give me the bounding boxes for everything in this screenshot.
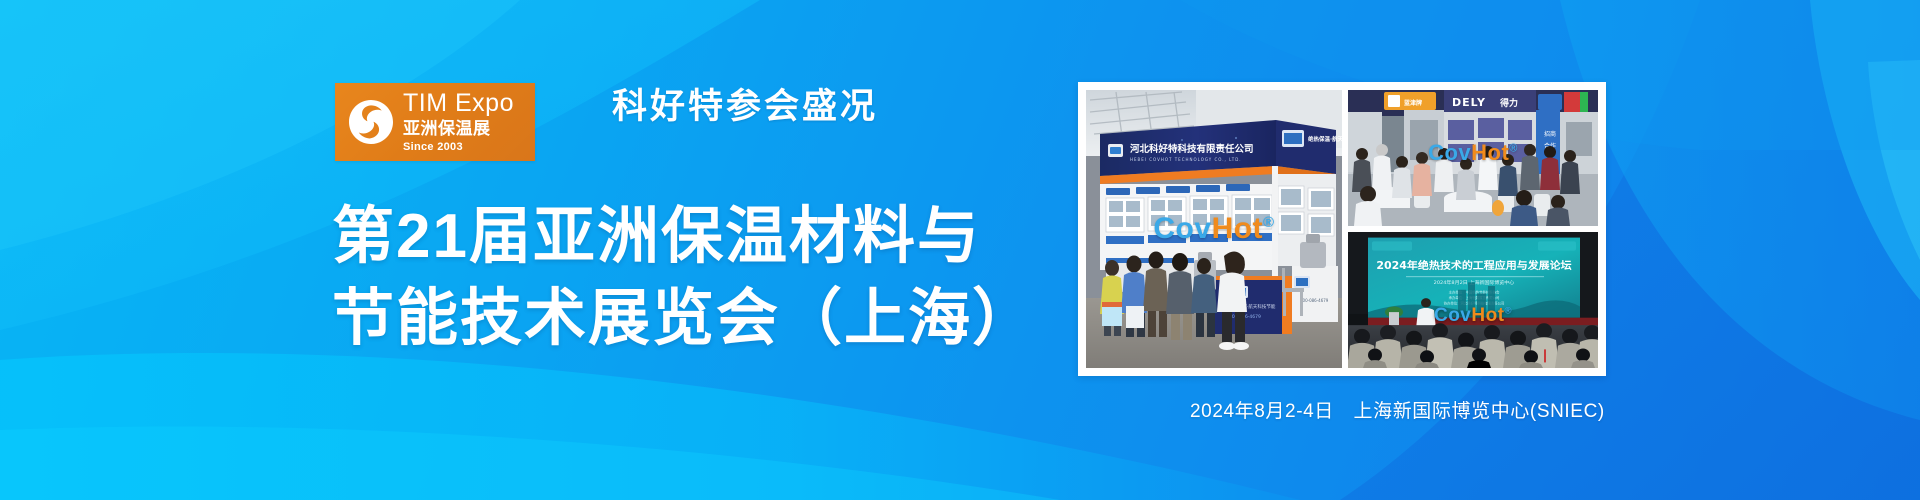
date-venue-text: 2024年8月2-4日 上海新国际博览中心(SNIEC) — [1190, 396, 1605, 423]
svg-text:蓝津牌: 蓝津牌 — [1404, 99, 1422, 107]
page-title: 第21届亚洲保温材料与 节能技术展览会（上海） — [332, 196, 1036, 360]
logo-chinese-name: 亚洲保温展 — [403, 120, 514, 137]
kicker-text: 科好特参会盛况 — [612, 78, 878, 129]
expo-banner: TIM Expo 亚洲保温展 Since 2003 科好特参会盛况 第21届亚洲… — [0, 0, 1920, 500]
svg-text:400-086-4679: 400-086-4679 — [1229, 314, 1261, 320]
tim-expo-yin-yang-mark — [345, 96, 397, 148]
svg-text:400-086-4679: 400-086-4679 — [1300, 298, 1329, 303]
booth-photo[interactable]: 河北科好特科技有限责任公司 HEBEI COVHOT TECHNOLOGY CO… — [1086, 90, 1342, 368]
svg-text:2024年绝热技术的工程应用与发展论坛: 2024年绝热技术的工程应用与发展论坛 — [1376, 260, 1572, 273]
svg-text:招商: 招商 — [1544, 130, 1556, 138]
logo-since-text: Since 2003 — [403, 142, 514, 153]
logo-english-name: TIM Expo — [403, 91, 514, 116]
photo-collage: 河北科好特科技有限责任公司 HEBEI COVHOT TECHNOLOGY CO… — [1078, 82, 1606, 376]
svg-text:HEBEI COVHOT TECHNOLOGY CO., L: HEBEI COVHOT TECHNOLOGY CO., LTD. — [1130, 157, 1242, 162]
forum-photo[interactable]: 2024年绝热技术的工程应用与发展论坛 2024年8月2日 上海新国际博览中心 … — [1348, 232, 1598, 368]
svg-text:河北科好特科技有限责任公司: 河北科好特科技有限责任公司 — [1130, 143, 1254, 155]
svg-text:绝热保温·航天科技: 绝热保温·航天科技 — [1308, 135, 1342, 143]
title-line-1: 第21届亚洲保温材料与 — [332, 196, 1036, 278]
title-line-2: 节能技术展览会（上海） — [332, 278, 1036, 360]
hall-photo[interactable]: 蓝津牌 DELY 得力 — [1348, 90, 1598, 226]
svg-text:DELY: DELY — [1452, 96, 1486, 109]
tim-expo-logo[interactable]: TIM Expo 亚洲保温展 Since 2003 — [335, 83, 535, 161]
photo-right-column: 蓝津牌 DELY 得力 — [1348, 90, 1598, 368]
svg-text:得力: 得力 — [1499, 97, 1518, 109]
